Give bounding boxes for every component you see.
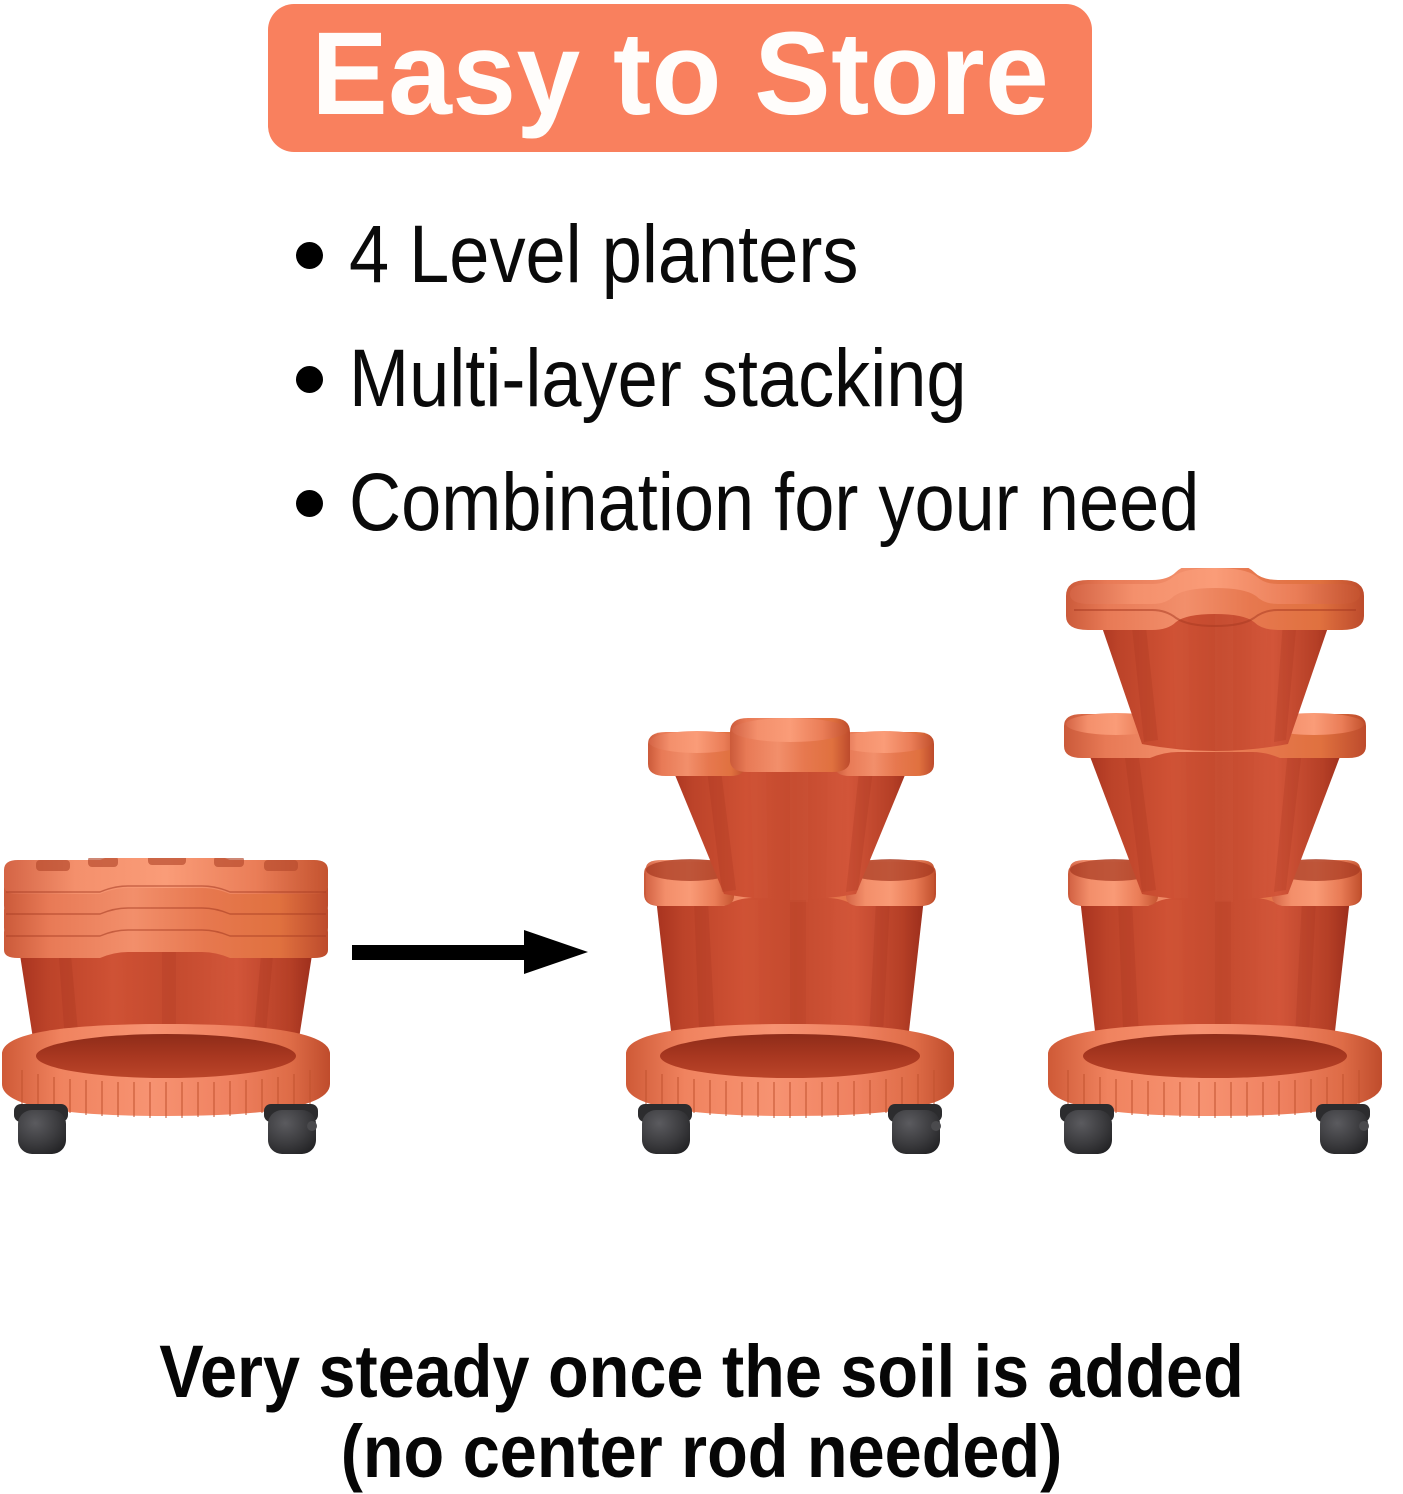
- bullet-icon: [296, 242, 323, 269]
- feature-item-0: 4 Level planters: [296, 196, 1366, 320]
- caddy-base: [626, 1024, 954, 1118]
- product-scene: [0, 640, 1403, 1220]
- feature-label: Multi-layer stacking: [349, 320, 967, 438]
- bullet-icon: [296, 366, 323, 393]
- transform-arrow-icon: [352, 924, 588, 980]
- caption-line-1: Very steady once the soil is added: [70, 1332, 1333, 1412]
- feature-item-2: Combination for your need: [296, 444, 1366, 568]
- tier-2-rim: [648, 718, 934, 776]
- header-badge: Easy to Store: [268, 4, 1092, 152]
- bottom-caption: Very steady once the soil is added (no c…: [0, 1332, 1403, 1492]
- feature-label: 4 Level planters: [349, 196, 858, 314]
- page-title: Easy to Store: [311, 15, 1049, 141]
- planter-two-tier-stack: [620, 718, 960, 1158]
- planter-nested-flat: [0, 858, 336, 1158]
- nested-rim-stack: [4, 858, 328, 958]
- caddy-base: [1048, 1024, 1382, 1118]
- planter-three-tier-stack: [1040, 568, 1390, 1158]
- feature-item-1: Multi-layer stacking: [296, 320, 1366, 444]
- bullet-icon: [296, 490, 323, 517]
- caption-line-2: (no center rod needed): [70, 1412, 1333, 1492]
- feature-list: 4 Level planters Multi-layer stacking Co…: [296, 196, 1366, 568]
- feature-label: Combination for your need: [349, 444, 1199, 562]
- caddy-base: [2, 1024, 330, 1118]
